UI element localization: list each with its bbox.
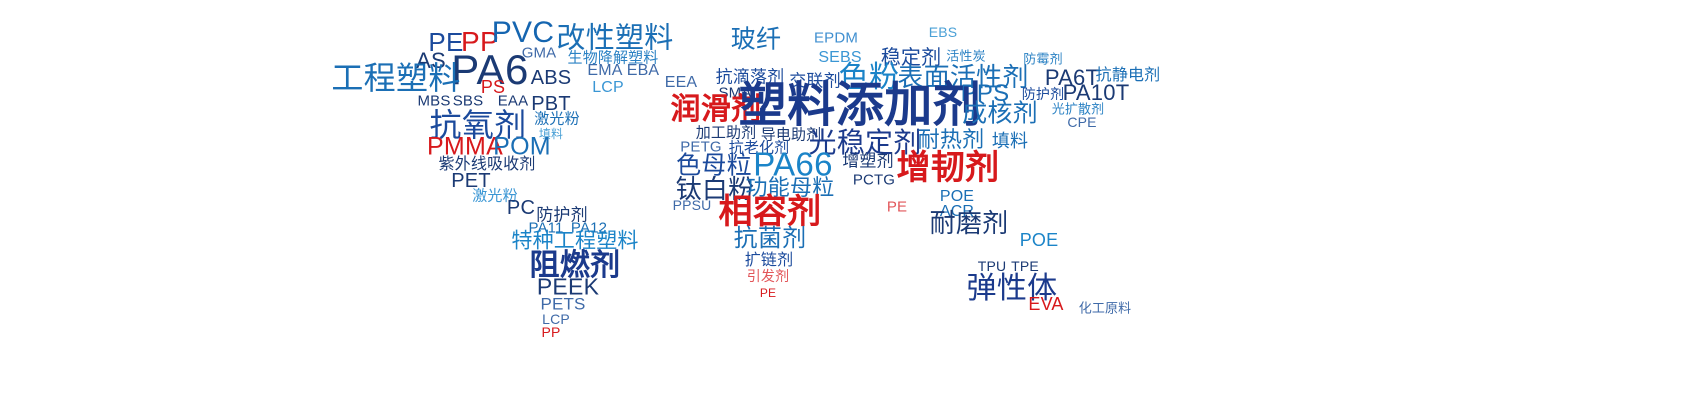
wordcloud-word[interactable]: 引发剂 — [747, 270, 789, 284]
wordcloud-word[interactable]: LCP — [592, 80, 624, 96]
wordcloud-word[interactable]: PS — [481, 78, 505, 96]
wordcloud-word[interactable]: PCTG — [853, 173, 895, 188]
wordcloud-word[interactable]: 色母粒 — [676, 153, 752, 178]
wordcloud-word[interactable]: PVC — [492, 18, 555, 48]
wordcloud-word[interactable]: PETS — [540, 296, 585, 313]
wordcloud-word[interactable]: PC — [507, 198, 535, 218]
wordcloud-word[interactable]: 化工原料 — [1079, 303, 1132, 316]
wordcloud-word[interactable]: ABS — [531, 68, 572, 88]
wordcloud-word[interactable]: POE — [1020, 231, 1059, 249]
wordcloud-word[interactable]: CPE — [1067, 115, 1096, 129]
wordcloud-word[interactable]: 增塑剂 — [842, 154, 894, 171]
wordcloud-word[interactable]: PPSU — [673, 198, 712, 212]
wordcloud-word[interactable]: 激光粉 — [534, 112, 579, 127]
wordcloud-word[interactable]: 耐磨剂 — [930, 211, 1009, 237]
wordcloud-word[interactable]: 工程塑料 — [331, 62, 460, 94]
wordcloud-word[interactable]: EBA — [627, 63, 660, 79]
wordcloud-word[interactable]: PE — [760, 287, 776, 299]
wordcloud-word[interactable]: 塑料添加剂 — [739, 81, 981, 129]
wordcloud-word[interactable]: EMA — [587, 63, 622, 79]
wordcloud-word[interactable]: EEA — [665, 75, 698, 91]
wordcloud-word[interactable]: 玻纤 — [731, 27, 782, 52]
wordcloud-word[interactable]: PE — [887, 200, 907, 215]
wordcloud-word[interactable]: PA10T — [1063, 82, 1130, 104]
wordcloud-canvas: PEPPPVCGMA改性塑料生物降解塑料玻纤EPDMEBSASPA6ABSEMA… — [0, 0, 1707, 400]
wordcloud-word[interactable]: EVA — [1028, 295, 1063, 313]
wordcloud-word[interactable]: EPDM — [814, 31, 858, 46]
wordcloud-word[interactable]: 成核剂 — [962, 101, 1038, 126]
wordcloud-word[interactable]: PP — [542, 325, 561, 339]
wordcloud-word[interactable]: 活性炭 — [946, 51, 985, 64]
wordcloud-word[interactable]: 抗菌剂 — [734, 226, 807, 250]
wordcloud-word[interactable]: EBS — [929, 25, 957, 39]
wordcloud-word[interactable]: 扩链剂 — [745, 252, 793, 268]
wordcloud-word[interactable]: 增韧剂 — [896, 151, 999, 185]
